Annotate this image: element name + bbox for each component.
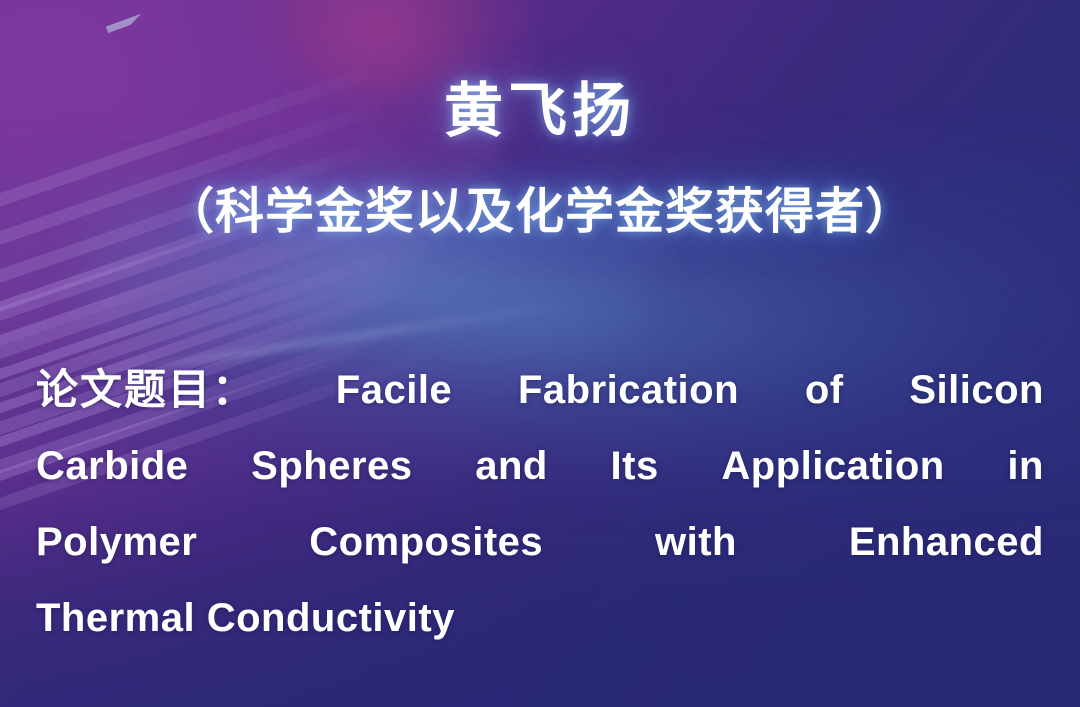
paper-word: Fabrication <box>518 352 739 428</box>
paper-title-line-1: 论文题目： Facile Fabrication of Silicon <box>36 352 1044 428</box>
paper-word: Facile <box>336 352 452 428</box>
paper-word: Spheres <box>251 428 412 504</box>
paper-title-block: 论文题目： Facile Fabrication of Silicon Carb… <box>36 352 1044 656</box>
paper-title-label: 论文题目： <box>36 352 256 428</box>
paper-title-line-2: Carbide Spheres and Its Application in <box>36 428 1044 504</box>
paper-word: Polymer <box>36 504 197 580</box>
poster-slide: 黄飞扬 （科学金奖以及化学金奖获得者） 论文题目： Facile Fabrica… <box>0 0 1080 707</box>
speaker-name: 黄飞扬 <box>0 82 1080 141</box>
paper-title-line-4: Thermal Conductivity <box>36 580 1044 656</box>
paper-word: Silicon <box>909 352 1044 428</box>
paper-word: Thermal Conductivity <box>36 596 455 640</box>
paper-word: Its <box>611 428 659 504</box>
paper-word: Enhanced <box>849 504 1044 580</box>
paper-word: and <box>475 428 548 504</box>
paper-word: Application <box>721 428 944 504</box>
paper-word: of <box>805 352 844 428</box>
paper-word: Composites <box>309 504 543 580</box>
speaker-credential: （科学金奖以及化学金奖获得者） <box>0 186 1080 240</box>
paper-word: Carbide <box>36 428 188 504</box>
poster-content: 黄飞扬 （科学金奖以及化学金奖获得者） 论文题目： Facile Fabrica… <box>0 0 1080 707</box>
paper-word: in <box>1007 428 1044 504</box>
paper-word: with <box>655 504 737 580</box>
paper-title-line-3: Polymer Composites with Enhanced <box>36 504 1044 580</box>
